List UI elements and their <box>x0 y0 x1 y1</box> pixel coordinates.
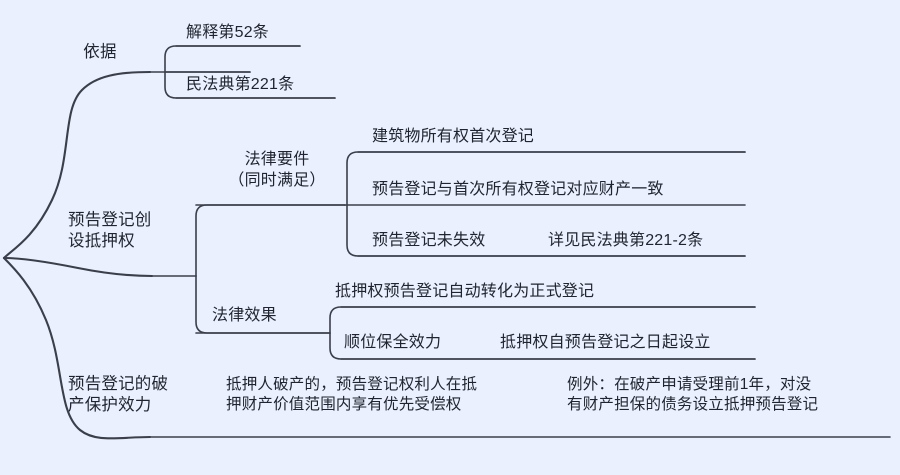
item-label-jianzhuwu[interactable]: 建筑物所有权首次登记 <box>372 126 534 147</box>
branch-label-pochan-line1[interactable]: 预告登记的破 <box>68 374 168 395</box>
branch-label-yiju[interactable]: 依据 <box>52 42 148 63</box>
branch-label-pochan-line2[interactable]: 产保护效力 <box>68 395 152 416</box>
item-label-pochan-youxian-line1[interactable]: 抵押人破产的，预告登记权利人在抵 <box>226 375 477 395</box>
item-label-jieshi-52[interactable]: 解释第52条 <box>186 22 269 43</box>
item-label-pochan-youxian-line2[interactable]: 押财产价值范围内享有优先受偿权 <box>226 395 462 415</box>
group-label-falv-yaojian-line2[interactable]: （同时满足） <box>212 170 342 191</box>
group-label-falv-yaojian-line1[interactable]: 法律要件 <box>212 149 342 170</box>
item-note-weishixiao[interactable]: 详见民法典第221-2条 <box>548 230 703 251</box>
item-note-shunwei-baoquan[interactable]: 抵押权自预告登记之日起设立 <box>500 332 711 353</box>
item-label-shunwei-baoquan[interactable]: 顺位保全效力 <box>344 332 441 353</box>
branch-label-yugao-line2[interactable]: 设抵押权 <box>68 231 135 252</box>
mindmap-canvas: 依据 解释第52条 民法典第221条 预告登记创 设抵押权 法律要件 （同时满足… <box>0 0 900 475</box>
group-label-falv-xiaoguo[interactable]: 法律效果 <box>212 305 277 326</box>
item-label-duiying-caichan[interactable]: 预告登记与首次所有权登记对应财产一致 <box>372 179 664 200</box>
item-label-zidong-zhuanhua[interactable]: 抵押权预告登记自动转化为正式登记 <box>335 281 594 302</box>
item-label-liwai-line1[interactable]: 例外：在破产申请受理前1年，对没 <box>567 375 811 395</box>
branch-label-yugao-line1[interactable]: 预告登记创 <box>68 210 152 231</box>
item-label-weishixiao[interactable]: 预告登记未失效 <box>372 230 485 251</box>
root-branch-yugao <box>4 258 152 276</box>
item-label-liwai-line2[interactable]: 有财产担保的债务设立抵押预告登记 <box>567 395 818 415</box>
item-label-minfadian-221[interactable]: 民法典第221条 <box>186 74 294 95</box>
